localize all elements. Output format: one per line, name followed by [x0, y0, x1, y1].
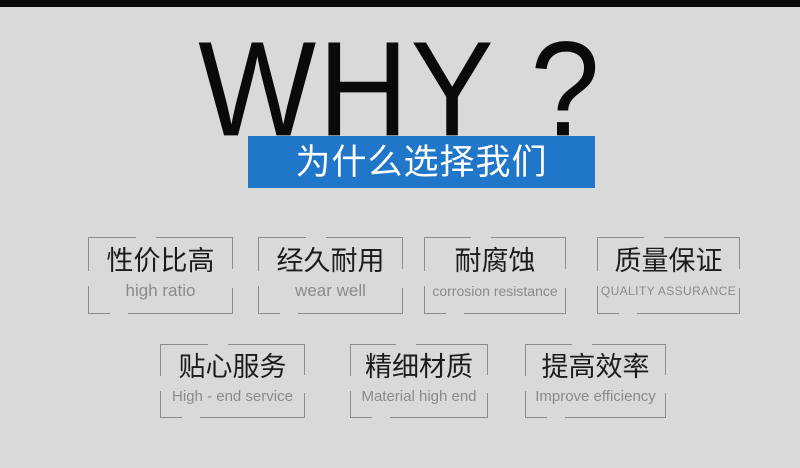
- feature-card-4: 质量保证 QUALITY ASSURANCE: [597, 237, 740, 314]
- feature-title: 精细材质: [350, 352, 488, 382]
- feature-card-1: 性价比高 high ratio: [88, 237, 233, 314]
- banner-subtitle-text: 为什么选择我们: [295, 145, 547, 180]
- feature-subtitle: high ratio: [88, 281, 233, 301]
- promo-banner-page: WHY ? 为什么选择我们 性价比高 high ratio: [0, 0, 800, 468]
- feature-card-2: 经久耐用 wear well: [258, 237, 403, 314]
- feature-title: 耐腐蚀: [424, 246, 566, 276]
- feature-title: 提高效率: [525, 352, 666, 382]
- feature-title: 经久耐用: [258, 246, 403, 276]
- feature-subtitle: corrosion resistance: [424, 282, 566, 300]
- feature-title: 质量保证: [597, 246, 740, 276]
- feature-card-5: 贴心服务 High - end service: [160, 344, 305, 418]
- top-black-strip: [0, 0, 800, 7]
- feature-subtitle: High - end service: [160, 387, 305, 406]
- feature-title: 贴心服务: [160, 352, 305, 382]
- feature-card-6: 精细材质 Material high end: [350, 344, 488, 418]
- feature-title: 性价比高: [88, 246, 233, 276]
- feature-card-7: 提高效率 Improve efficiency: [525, 344, 666, 418]
- headline-blue-banner: 为什么选择我们: [248, 136, 595, 188]
- feature-subtitle: wear well: [258, 281, 403, 301]
- feature-subtitle: Material high end: [350, 387, 488, 406]
- feature-card-3: 耐腐蚀 corrosion resistance: [424, 237, 566, 314]
- feature-subtitle: QUALITY ASSURANCE: [597, 283, 740, 299]
- feature-subtitle: Improve efficiency: [525, 387, 666, 406]
